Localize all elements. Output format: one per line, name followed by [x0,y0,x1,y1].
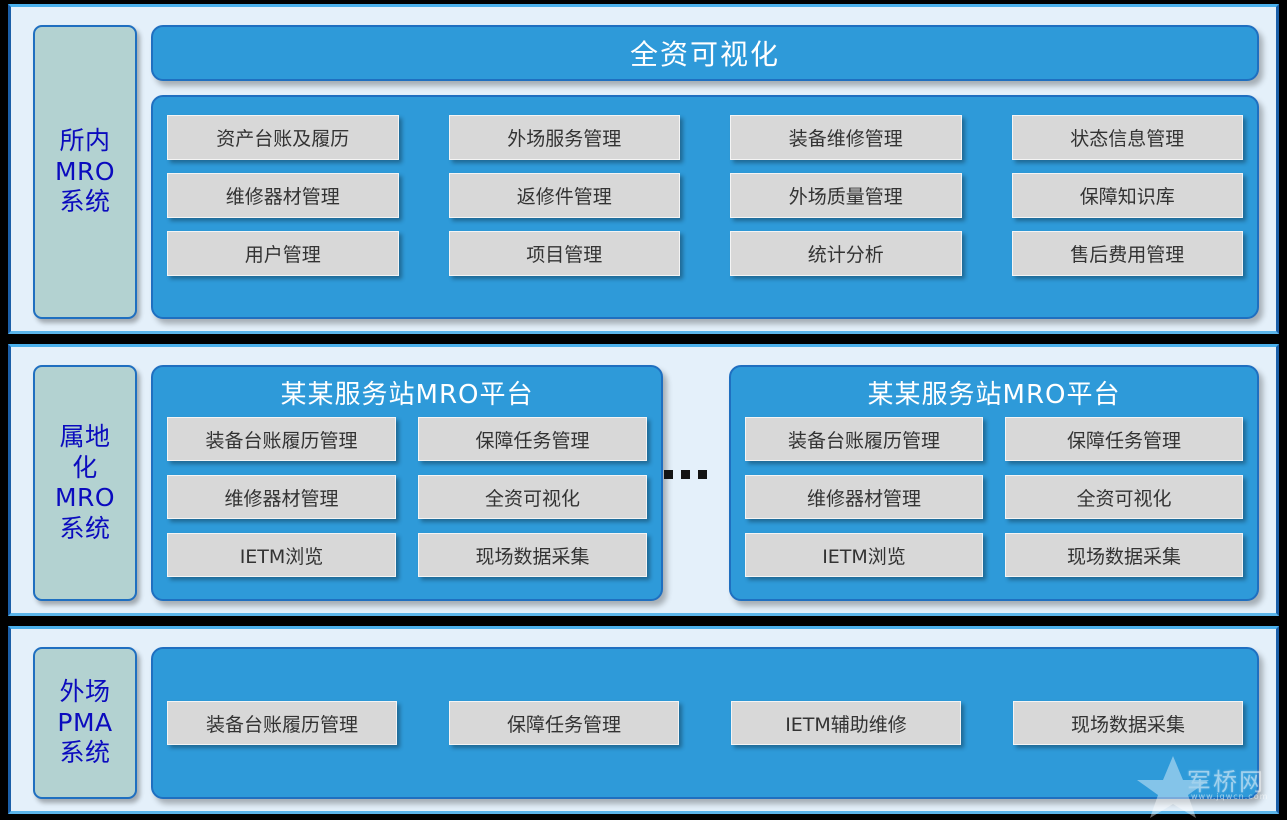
section-in-house-mro: 所内 MRO 系统 全资可视化 资产台账及履历 外场服务管理 装备维修管理 状态… [8,4,1279,334]
module-chip[interactable]: 保障任务管理 [1005,417,1243,461]
module-chip[interactable]: 全资可视化 [418,475,647,519]
module-chip[interactable]: 保障任务管理 [418,417,647,461]
module-chip[interactable]: 项目管理 [449,231,681,276]
platform-title: 某某服务站MRO平台 [745,373,1243,417]
module-chip[interactable]: 维修器材管理 [167,173,399,218]
category-label-in-house-mro: 所内 MRO 系统 [33,25,137,319]
module-chip[interactable]: 装备台账履历管理 [167,701,397,745]
module-chip[interactable]: IETM浏览 [167,533,396,577]
architecture-diagram: 所内 MRO 系统 全资可视化 资产台账及履历 外场服务管理 装备维修管理 状态… [0,0,1287,820]
module-chip[interactable]: 全资可视化 [1005,475,1243,519]
platform-module-grid: 装备台账履历管理 保障任务管理 维修器材管理 全资可视化 IETM浏览 现场数据… [167,417,647,577]
category-label-field-pma: 外场 PMA 系统 [33,647,137,799]
module-container-in-house-mro: 资产台账及履历 外场服务管理 装备维修管理 状态信息管理 维修器材管理 返修件管… [151,95,1259,319]
category-line: MRO [55,483,115,514]
category-label-localized-mro: 属地 化 MRO 系统 [33,365,137,601]
ellipsis-icon [664,470,707,479]
module-chip[interactable]: 统计分析 [730,231,962,276]
section-localized-mro: 属地 化 MRO 系统 某某服务站MRO平台 装备台账履历管理 保障任务管理 维… [8,344,1279,616]
category-line: PMA [57,708,112,739]
section-field-pma: 外场 PMA 系统 装备台账履历管理 保障任务管理 IETM辅助维修 现场数据采… [8,626,1279,814]
banner-full-asset-visualization: 全资可视化 [151,25,1259,81]
module-chip[interactable]: 装备台账履历管理 [745,417,983,461]
category-line: 外场 [57,677,112,708]
service-station-platform: 某某服务站MRO平台 装备台账履历管理 保障任务管理 维修器材管理 全资可视化 … [729,365,1259,601]
banner-title: 全资可视化 [630,33,780,73]
module-chip[interactable]: 装备台账履历管理 [167,417,396,461]
module-chip[interactable]: 外场服务管理 [449,115,681,160]
module-chip[interactable]: 保障任务管理 [449,701,679,745]
category-line: 系统 [55,514,115,545]
ellipsis-dot [681,470,690,479]
category-line: 系统 [57,738,112,769]
service-station-platform: 某某服务站MRO平台 装备台账履历管理 保障任务管理 维修器材管理 全资可视化 … [151,365,663,601]
module-chip[interactable]: 现场数据采集 [1005,533,1243,577]
module-container-field-pma: 装备台账履历管理 保障任务管理 IETM辅助维修 现场数据采集 [151,647,1259,799]
module-grid: 资产台账及履历 外场服务管理 装备维修管理 状态信息管理 维修器材管理 返修件管… [167,115,1243,299]
platform-module-grid: 装备台账履历管理 保障任务管理 维修器材管理 全资可视化 IETM浏览 现场数据… [745,417,1243,577]
module-chip[interactable]: 返修件管理 [449,173,681,218]
module-chip[interactable]: 用户管理 [167,231,399,276]
module-chip[interactable]: IETM浏览 [745,533,983,577]
ellipsis-dot [698,470,707,479]
module-chip[interactable]: 维修器材管理 [167,475,396,519]
module-chip[interactable]: 外场质量管理 [730,173,962,218]
category-line: 系统 [55,187,115,218]
module-chip[interactable]: IETM辅助维修 [731,701,961,745]
module-chip[interactable]: 资产台账及履历 [167,115,399,160]
category-line: MRO [55,157,115,188]
module-chip[interactable]: 售后费用管理 [1012,231,1244,276]
ellipsis-dot [664,470,673,479]
module-chip[interactable]: 现场数据采集 [418,533,647,577]
category-line: 属地 [55,422,115,453]
module-chip[interactable]: 现场数据采集 [1013,701,1243,745]
module-chip[interactable]: 维修器材管理 [745,475,983,519]
module-chip[interactable]: 保障知识库 [1012,173,1244,218]
platform-title: 某某服务站MRO平台 [167,373,647,417]
module-chip[interactable]: 装备维修管理 [730,115,962,160]
pma-module-grid: 装备台账履历管理 保障任务管理 IETM辅助维修 现场数据采集 [167,701,1243,745]
category-line: 所内 [55,126,115,157]
module-chip[interactable]: 状态信息管理 [1012,115,1244,160]
category-line: 化 [55,453,115,484]
